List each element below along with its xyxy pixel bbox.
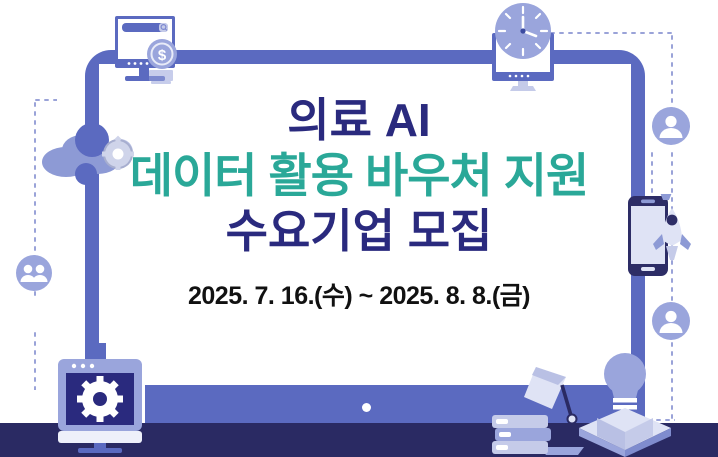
clock-icon [494,2,552,60]
headline-line-2: 데이터 활용 바우처 지원 [0,150,718,203]
headline-line-3: 수요기업 모집 [0,206,718,258]
svg-text:$: $ [158,47,167,64]
promo-poster: $ [0,0,718,457]
lightbulb-box-icon [575,352,675,457]
gear-monitor-icon [50,343,155,455]
headline-line-1: 의료 AI [0,96,718,146]
trackpad-dot [362,403,371,412]
dollar-coin-icon: $ [146,38,178,70]
application-period: 2025. 7. 16.(수) ~ 2025. 8. 8.(금) [0,276,718,312]
dotted-line-top-right [548,31,673,35]
poster-text-block: 의료 AI 데이터 활용 바우처 지원 수요기업 모집 2025. 7. 16.… [0,96,718,312]
dotted-line-left-lower [33,330,37,390]
